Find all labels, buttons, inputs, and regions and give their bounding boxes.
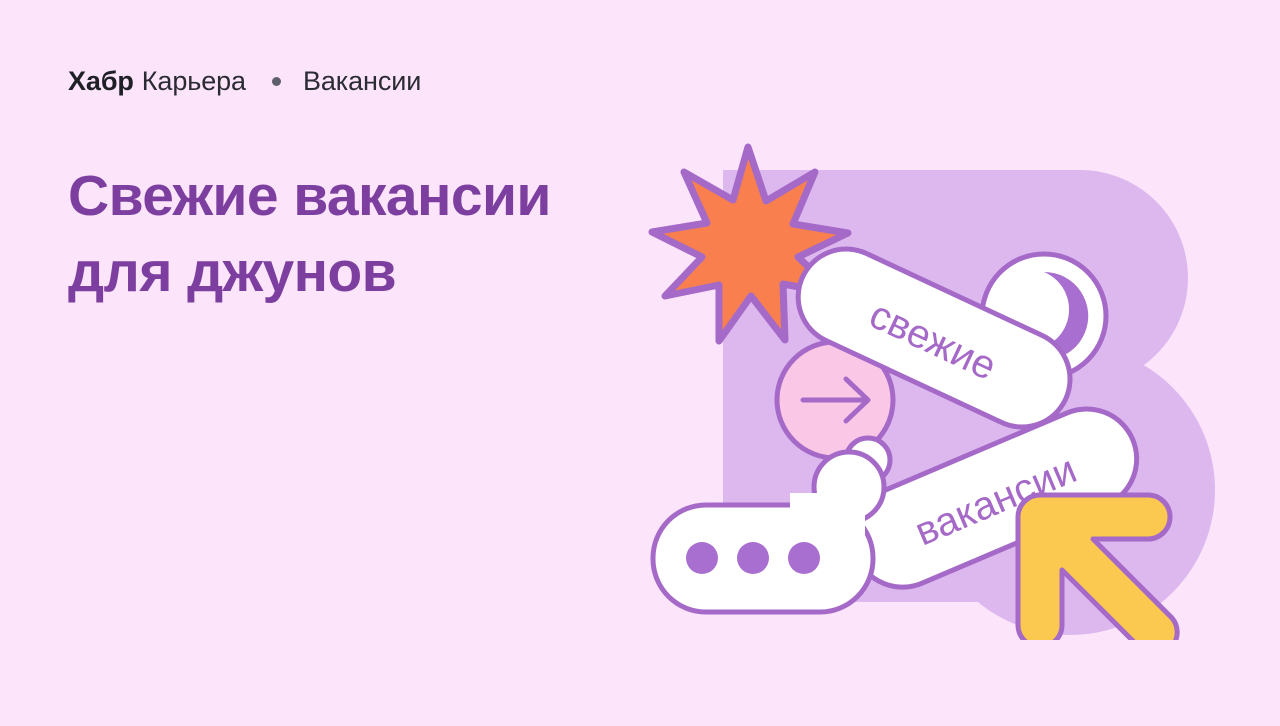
chat-dot-3 [788, 542, 820, 574]
chat-dot-2 [737, 542, 769, 574]
breadcrumb-separator-dot-icon [272, 77, 281, 86]
hero-illustration: вакансии свежие [640, 120, 1220, 640]
chat-dot-1 [686, 542, 718, 574]
breadcrumb-section[interactable]: Карьера [142, 64, 246, 98]
text-column: Хабр Карьера Вакансии Свежие вакансии дл… [68, 64, 668, 348]
breadcrumb-brand[interactable]: Хабр [68, 64, 134, 98]
breadcrumb-leaf[interactable]: Вакансии [303, 64, 421, 98]
page-title-line-1: Свежие вакансии [68, 158, 668, 234]
banner-root: Хабр Карьера Вакансии Свежие вакансии дл… [0, 0, 1280, 726]
breadcrumb: Хабр Карьера Вакансии [68, 64, 668, 98]
page-title: Свежие вакансии для джунов [68, 158, 668, 310]
page-title-line-2: для джунов [68, 234, 668, 310]
